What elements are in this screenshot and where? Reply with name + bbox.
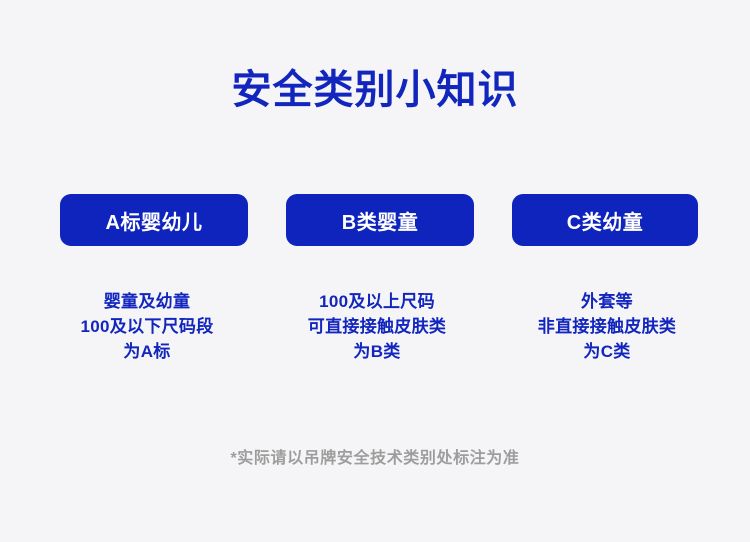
description-line: 为C类 [492,339,722,364]
category-description-c: 外套等 非直接接触皮肤类 为C类 [492,289,722,364]
description-line: 100及以上尺码 [262,289,492,314]
description-line: 100及以下尺码段 [32,314,262,339]
description-line: 为B类 [262,339,492,364]
category-badge-row: A标婴幼儿 B类婴童 C类幼童 [60,194,698,246]
category-badge-a[interactable]: A标婴幼儿 [60,194,248,246]
description-line: 可直接接触皮肤类 [262,314,492,339]
category-description-a: 婴童及幼童 100及以下尺码段 为A标 [32,289,262,364]
category-description-b: 100及以上尺码 可直接接触皮肤类 为B类 [262,289,492,364]
description-line: 婴童及幼童 [32,289,262,314]
category-description-row: 婴童及幼童 100及以下尺码段 为A标 100及以上尺码 可直接接触皮肤类 为B… [32,289,722,364]
safety-category-infographic: 安全类别小知识 A标婴幼儿 B类婴童 C类幼童 婴童及幼童 100及以下尺码段 … [0,0,750,542]
description-line: 外套等 [492,289,722,314]
description-line: 为A标 [32,339,262,364]
category-badge-c[interactable]: C类幼童 [512,194,698,246]
footnote-disclaimer: *实际请以吊牌安全技术类别处标注为准 [0,444,750,468]
category-badge-b[interactable]: B类婴童 [286,194,474,246]
page-title: 安全类别小知识 [0,64,750,116]
description-line: 非直接接触皮肤类 [492,314,722,339]
